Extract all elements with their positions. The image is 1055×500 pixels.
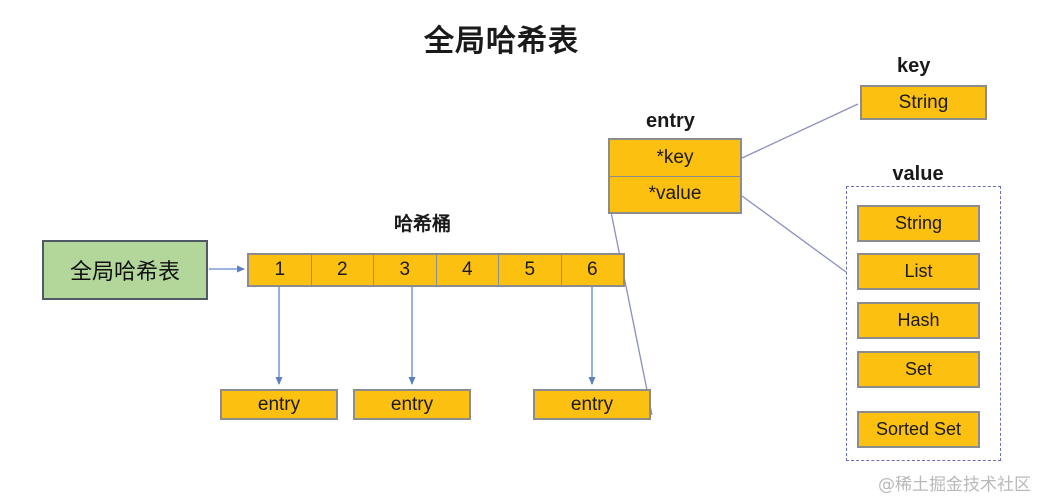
global-hash-table-label: 全局哈希表	[70, 254, 180, 286]
bucket-entry-label: entry	[571, 394, 613, 416]
bucket-cell[interactable]: 6	[562, 255, 624, 285]
value-type-label: List	[904, 261, 932, 282]
value-type-label: Set	[905, 359, 932, 380]
bucket-entry-box: entry	[533, 389, 651, 420]
bucket-cell[interactable]: 5	[499, 255, 562, 285]
line-key-to-keybox	[742, 104, 858, 158]
key-type-label: String	[899, 92, 949, 114]
bucket-entry-label: entry	[258, 394, 300, 416]
global-hash-table-box: 全局哈希表	[42, 240, 208, 300]
line-entry3-to-entry-struct	[611, 212, 652, 415]
diagram-title: 全局哈希表	[424, 16, 579, 60]
value-type-box-set: Set	[857, 351, 980, 388]
bucket-cell[interactable]: 1	[249, 255, 312, 285]
bucket-cell[interactable]: 4	[437, 255, 500, 285]
value-type-label: Sorted Set	[876, 419, 961, 440]
diagram-canvas: 全局哈希表 全局哈希表 哈希桶 1 2 3 4 5 6 entry entry …	[0, 0, 1055, 500]
value-type-box-list: List	[857, 253, 980, 290]
bucket-cell[interactable]: 2	[312, 255, 375, 285]
value-type-box-sorted-set: Sorted Set	[857, 411, 980, 448]
entry-struct-box: *key *value	[608, 138, 742, 214]
entry-struct-title: entry	[646, 110, 695, 133]
bucket-entry-label: entry	[391, 394, 433, 416]
value-type-label: Hash	[897, 310, 939, 331]
key-group-title: key	[897, 55, 930, 78]
watermark: @稀土掘金技术社区	[878, 470, 1031, 495]
line-value-to-valuegroup	[742, 196, 846, 272]
bucket-entry-box: entry	[353, 389, 471, 420]
bucket-cell[interactable]: 3	[374, 255, 437, 285]
entry-field-key[interactable]: *key	[610, 140, 740, 177]
value-type-box-hash: Hash	[857, 302, 980, 339]
bucket-title: 哈希桶	[394, 209, 451, 236]
bucket-entry-box: entry	[220, 389, 338, 420]
value-type-label: String	[895, 213, 942, 234]
hash-bucket-array: 1 2 3 4 5 6	[247, 253, 625, 287]
key-type-box-string: String	[860, 85, 987, 120]
entry-field-value[interactable]: *value	[610, 177, 740, 213]
value-group-title: value	[891, 163, 945, 185]
value-type-box-string: String	[857, 205, 980, 242]
